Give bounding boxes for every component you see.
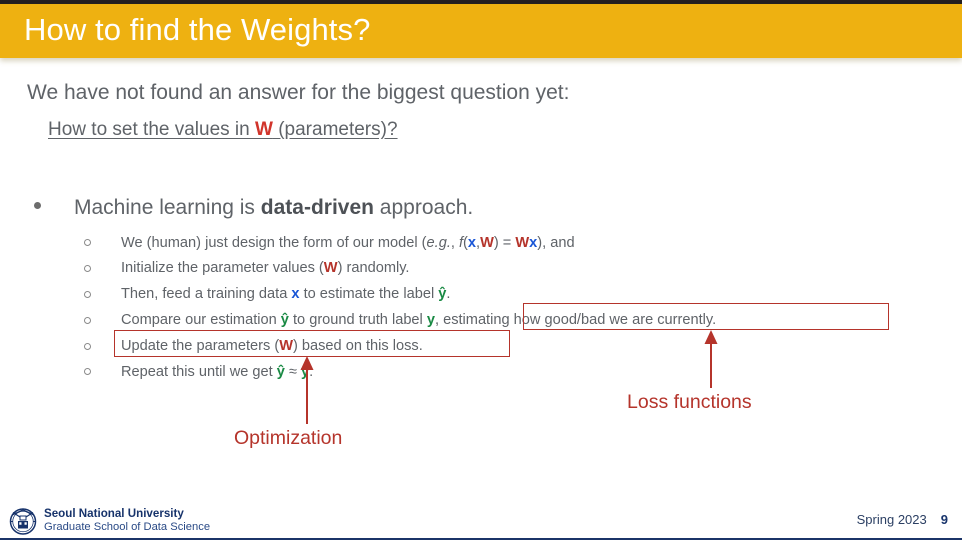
annotation-optimization: Optimization bbox=[234, 427, 342, 450]
sub-bullet-label: Compare our estimation ŷ to ground truth… bbox=[121, 313, 716, 328]
segment-plain: , bbox=[451, 235, 459, 251]
weight-symbol: W bbox=[255, 119, 273, 140]
filled-bullet-icon bbox=[34, 202, 41, 209]
sub-bullet-item-design-model: We (human) just design the form of our m… bbox=[84, 230, 954, 256]
sub-bullet-item-repeat-until-converged: Repeat this until we get ŷ ≈ y. bbox=[84, 359, 954, 385]
footer-divider-line bbox=[0, 538, 962, 540]
sub-bullet-item-compare-estimation: Compare our estimation ŷ to ground truth… bbox=[84, 307, 954, 333]
segment-red: W bbox=[515, 235, 529, 251]
sub-bullet-item-initialize-parameters: Initialize the parameter values (W) rand… bbox=[84, 256, 954, 282]
segment-blue: x bbox=[468, 235, 476, 251]
segment-red: W bbox=[480, 235, 494, 251]
sub-bullet-label: We (human) just design the form of our m… bbox=[121, 236, 575, 251]
segment-plain: We (human) just design the form of our m… bbox=[121, 235, 427, 251]
segment-plain: Then, feed a training data bbox=[121, 286, 291, 302]
intro-line-1: We have not found an answer for the bigg… bbox=[27, 81, 569, 105]
segment-plain: , estimating how good/bad we are current… bbox=[435, 312, 716, 328]
main-bullet-label: Machine learning is data-driven approach… bbox=[74, 196, 473, 220]
segment-plain: to estimate the label bbox=[300, 286, 439, 302]
main-bullet-prefix: Machine learning is bbox=[74, 196, 261, 219]
sub-bullet-item-update-parameters: Update the parameters (W) based on this … bbox=[84, 333, 954, 359]
hollow-bullet-icon bbox=[84, 291, 91, 298]
footer-institution: Seoul National University Graduate Schoo… bbox=[44, 507, 210, 534]
hollow-bullet-icon bbox=[84, 343, 91, 350]
main-bullet-emphasis: data-driven bbox=[261, 196, 374, 219]
segment-plain: Repeat this until we get bbox=[121, 364, 277, 380]
page-title: How to find the Weights? bbox=[24, 12, 370, 48]
footer-school-name: Graduate School of Data Science bbox=[44, 521, 210, 534]
intro-line-2-question: How to set the values in W (parameters)? bbox=[48, 119, 398, 141]
segment-plain: Compare our estimation bbox=[121, 312, 281, 328]
segment-plain: to ground truth label bbox=[289, 312, 427, 328]
segment-plain: ) based on this loss. bbox=[293, 338, 423, 354]
segment-plain: ) = bbox=[494, 235, 516, 251]
loss-functions-arrow bbox=[700, 330, 722, 388]
main-bullet-suffix: approach. bbox=[374, 196, 473, 219]
hollow-bullet-icon bbox=[84, 265, 91, 272]
hollow-bullet-icon bbox=[84, 317, 91, 324]
slide-canvas: How to find the Weights? We have not fou… bbox=[0, 0, 962, 543]
footer-term: Spring 2023 bbox=[857, 512, 927, 527]
seoul-national-university-logo-icon bbox=[7, 506, 39, 536]
segment-red: W bbox=[324, 260, 338, 276]
segment-plain: Initialize the parameter values ( bbox=[121, 260, 324, 276]
main-bullet-item: Machine learning is data-driven approach… bbox=[34, 196, 473, 220]
intro-line-2-prefix: How to set the values in bbox=[48, 119, 255, 140]
slide-title-bar: How to find the Weights? bbox=[0, 4, 962, 58]
sub-bullet-label: Then, feed a training data x to estimate… bbox=[121, 287, 450, 302]
footer-page-number: 9 bbox=[941, 512, 948, 527]
sub-bullet-label: Initialize the parameter values (W) rand… bbox=[121, 261, 410, 276]
segment-red: W bbox=[279, 338, 293, 354]
segment-blue: x bbox=[291, 286, 299, 302]
footer-university-name: Seoul National University bbox=[44, 507, 210, 521]
footer-meta: Spring 2023 9 bbox=[857, 512, 948, 527]
optimization-arrow bbox=[296, 356, 318, 424]
sub-bullet-list: We (human) just design the form of our m… bbox=[84, 230, 954, 385]
segment-plain: Update the parameters ( bbox=[121, 338, 279, 354]
sub-bullet-label: Repeat this until we get ŷ ≈ y. bbox=[121, 365, 313, 380]
annotation-loss-functions: Loss functions bbox=[627, 391, 752, 414]
segment-green: ŷ bbox=[277, 364, 285, 380]
segment-green: y bbox=[427, 312, 435, 328]
hollow-bullet-icon bbox=[84, 239, 91, 246]
segment-italic: e.g. bbox=[427, 235, 451, 251]
segment-plain: . bbox=[446, 286, 450, 302]
segment-green: ŷ bbox=[281, 312, 289, 328]
hollow-bullet-icon bbox=[84, 368, 91, 375]
segment-plain: ), and bbox=[537, 235, 574, 251]
segment-plain: ) randomly. bbox=[338, 260, 410, 276]
intro-line-2-suffix: (parameters)? bbox=[273, 119, 398, 140]
sub-bullet-label: Update the parameters (W) based on this … bbox=[121, 339, 423, 354]
sub-bullet-item-feed-training-data: Then, feed a training data x to estimate… bbox=[84, 282, 954, 308]
